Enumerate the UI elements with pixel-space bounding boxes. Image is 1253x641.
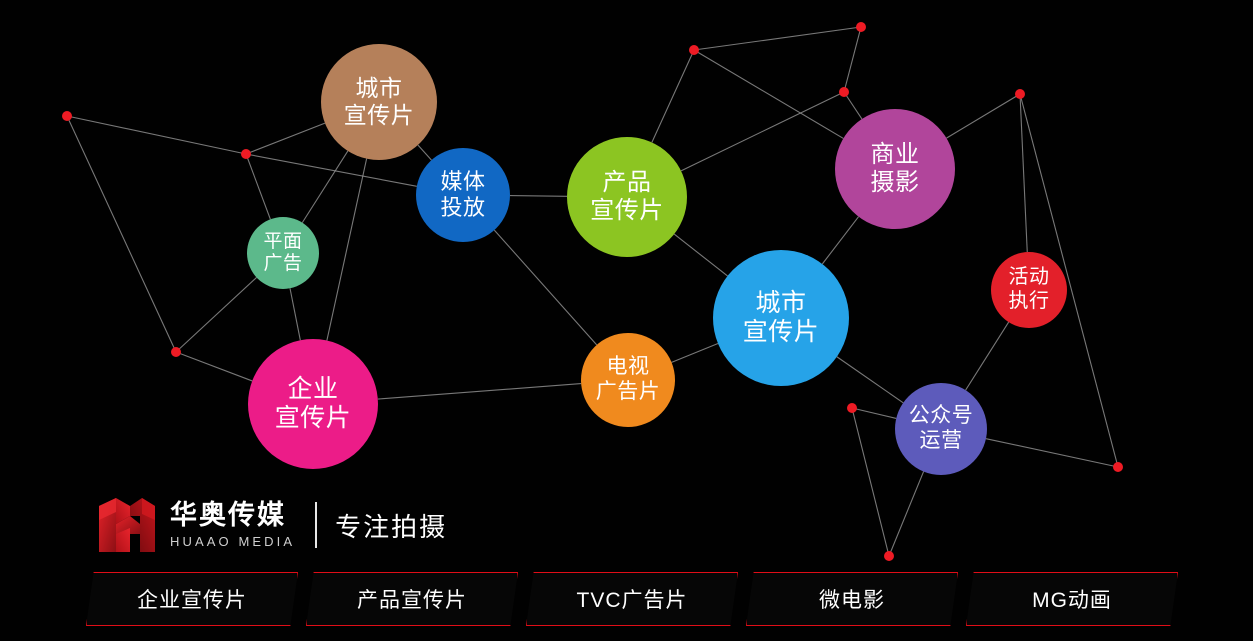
tab-mg-animation[interactable]: MG动画 — [966, 572, 1178, 626]
tab-micro-film[interactable]: 微电影 — [746, 572, 958, 626]
bubble-label-line: 宣传片 — [743, 318, 820, 348]
network-edge — [494, 230, 596, 345]
bubble-label-line: 宣传片 — [590, 197, 664, 225]
service-bubble-commercial-photo[interactable]: 商业摄影 — [835, 109, 955, 229]
network-edge — [510, 196, 567, 197]
service-bubble-product-promo[interactable]: 产品宣传片 — [567, 137, 687, 257]
service-bubble-event-execution[interactable]: 活动执行 — [991, 252, 1067, 328]
network-node-dot[interactable] — [856, 22, 866, 32]
brand-name-cn: 华奥传媒 — [170, 502, 295, 529]
network-edge — [652, 50, 694, 142]
network-edge — [822, 217, 858, 264]
edge-layer — [67, 27, 1118, 556]
network-edge — [176, 277, 257, 352]
brand-tagline: 专注拍摄 — [335, 507, 447, 544]
bubble-label-line: 电视 — [607, 355, 650, 380]
network-node-dot[interactable] — [241, 149, 251, 159]
network-edge — [418, 145, 432, 160]
network-edge — [681, 92, 844, 171]
network-edge — [302, 151, 348, 223]
network-node-dot[interactable] — [1015, 89, 1025, 99]
network-edge — [67, 116, 176, 352]
bubble-label-line: 公众号 — [909, 404, 974, 429]
huaao-h-monogram-icon — [96, 494, 158, 556]
service-bubble-city-promo-blue[interactable]: 城市宣传片 — [713, 250, 849, 386]
network-node-dot[interactable] — [884, 551, 894, 561]
tab-corporate-promo[interactable]: 企业宣传片 — [86, 572, 298, 626]
network-node-dot[interactable] — [1113, 462, 1123, 472]
bubble-label-line: 产品 — [603, 169, 652, 197]
network-edge — [946, 94, 1020, 138]
network-edge — [672, 344, 718, 363]
network-edge — [674, 234, 727, 276]
network-edge — [290, 288, 300, 340]
network-edge — [837, 357, 903, 403]
bubble-label-line: 摄影 — [871, 169, 920, 197]
network-edge — [246, 154, 417, 186]
bubble-label-line: 媒体 — [440, 169, 485, 195]
tab-label: TVC广告片 — [577, 584, 688, 614]
tab-label: 企业宣传片 — [137, 584, 247, 614]
network-edge — [694, 27, 861, 50]
network-edge — [378, 384, 581, 399]
bubble-label-line: 城市 — [755, 289, 806, 319]
service-bubble-corporate-promo[interactable]: 企业宣传片 — [248, 339, 378, 469]
bubble-label-line: 广告片 — [596, 380, 661, 405]
brand-name-block: 华奥传媒 HUAAO MEDIA — [170, 496, 295, 554]
tab-label: MG动画 — [1032, 584, 1112, 614]
service-bubble-media-placement[interactable]: 媒体投放 — [416, 148, 510, 242]
brand-logo-block: 华奥传媒 HUAAO MEDIA 专注拍摄 — [96, 492, 447, 558]
network-edge — [694, 50, 843, 138]
network-edge — [176, 352, 252, 381]
service-tab-bar: 企业宣传片产品宣传片TVC广告片微电影MG动画 — [86, 572, 1186, 628]
network-node-dot[interactable] — [62, 111, 72, 121]
bubble-label-line: 企业 — [287, 375, 338, 405]
bubble-label-line: 宣传片 — [344, 102, 415, 129]
brand-name-en: HUAAO MEDIA — [170, 535, 295, 548]
bubble-label-line: 商业 — [871, 141, 920, 169]
bubble-label-line: 广告 — [263, 253, 302, 275]
network-edge — [966, 322, 1009, 390]
network-node-dot[interactable] — [847, 403, 857, 413]
network-edge — [852, 408, 889, 556]
network-edge — [852, 408, 896, 418]
tab-label: 微电影 — [819, 584, 885, 614]
network-edge — [246, 154, 270, 219]
logo-divider — [315, 502, 317, 548]
service-bubble-city-promo-brown[interactable]: 城市宣传片 — [321, 44, 437, 160]
network-node-dot[interactable] — [839, 87, 849, 97]
tab-product-promo[interactable]: 产品宣传片 — [306, 572, 518, 626]
service-bubble-tv-commercial[interactable]: 电视广告片 — [581, 333, 675, 427]
bubble-label-line: 投放 — [440, 195, 485, 221]
bubble-label-line: 活动 — [1009, 266, 1050, 290]
node-dot-layer — [62, 22, 1123, 561]
bubble-label-line: 运营 — [920, 429, 963, 454]
network-node-dot[interactable] — [689, 45, 699, 55]
network-edge — [889, 472, 924, 556]
tab-label: 产品宣传片 — [357, 584, 467, 614]
bubble-label-line: 平面 — [263, 231, 302, 253]
bubble-label-line: 执行 — [1009, 290, 1050, 314]
network-node-dot[interactable] — [171, 347, 181, 357]
tab-tvc[interactable]: TVC广告片 — [526, 572, 738, 626]
network-edge — [844, 27, 861, 92]
service-bubble-wechat-operation[interactable]: 公众号运营 — [895, 383, 987, 475]
service-bubble-print-ad[interactable]: 平面广告 — [247, 217, 319, 289]
bubble-label-line: 宣传片 — [275, 404, 352, 434]
network-edge — [67, 116, 246, 154]
infographic-canvas: 城市宣传片平面广告媒体投放产品宣传片商业摄影活动执行城市宣传片电视广告片企业宣传… — [0, 0, 1253, 641]
bubble-label-line: 城市 — [356, 75, 403, 102]
network-edge — [986, 439, 1118, 467]
network-edge — [246, 123, 325, 154]
network-edge — [327, 159, 367, 341]
